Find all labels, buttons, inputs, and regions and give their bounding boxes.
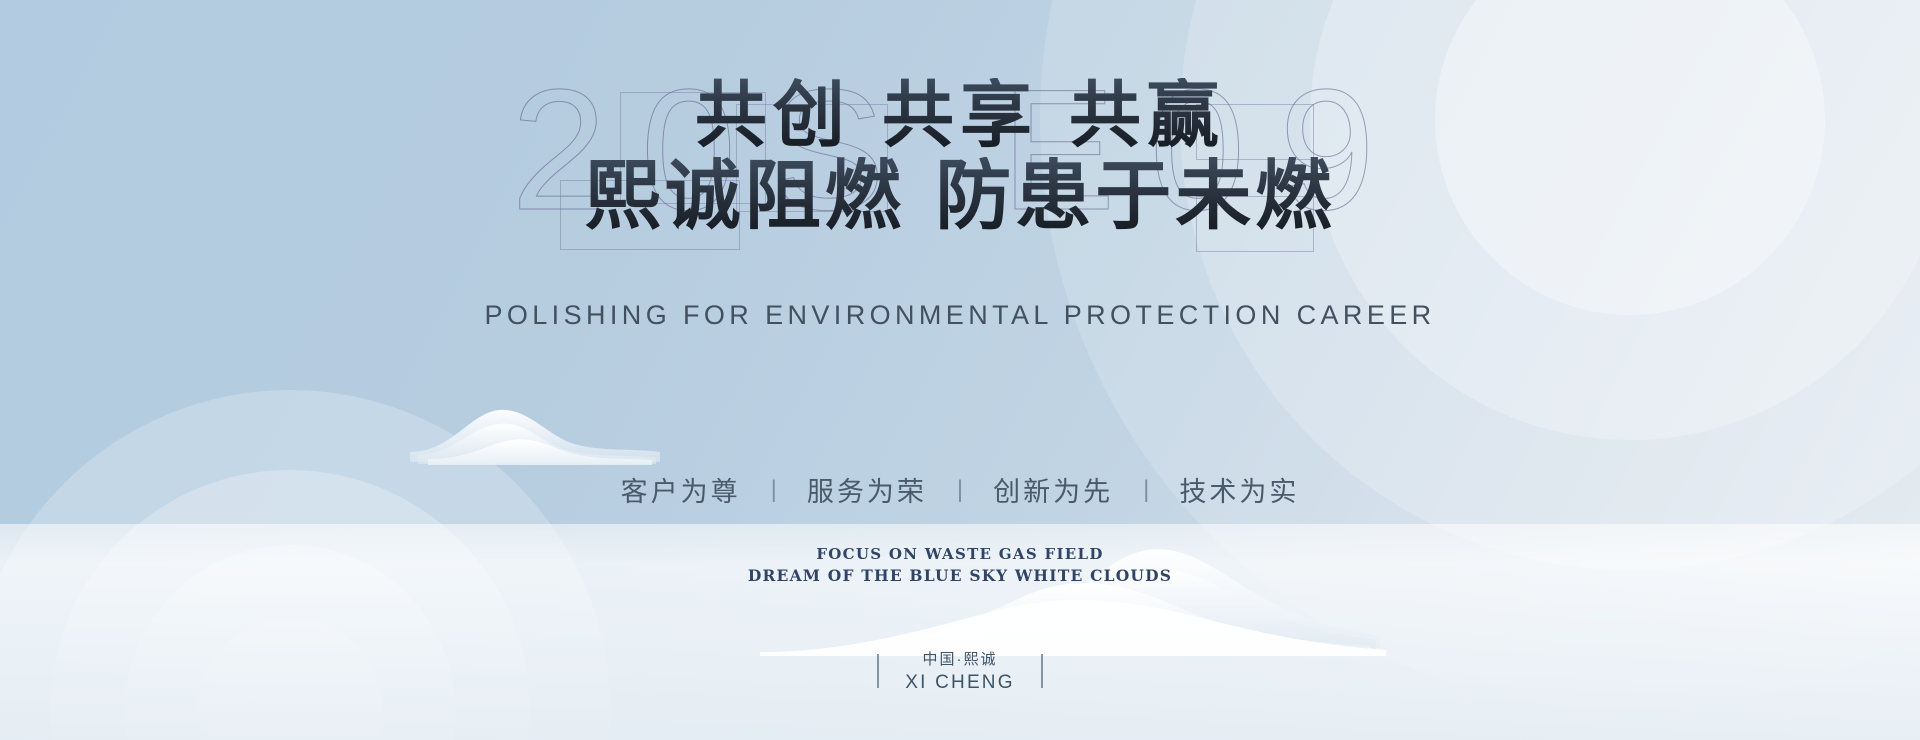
value-item-4: 技术为实 [1149,470,1329,509]
headline-line-2: 熙诚阻燃 防患于未燃 [0,157,1920,235]
footer-divider-right [1041,654,1043,688]
value-item-3: 创新为先 [963,470,1143,509]
sub-english-block: FOCUS ON WASTE GAS FIELD DREAM OF THE BL… [0,545,1920,585]
brand-name-cn: 中国·熙诚 [905,648,1014,669]
value-item-2: 服务为荣 [777,470,957,509]
brand-name-en: XI CHENG [905,672,1014,694]
sub-english-line-1: FOCUS ON WASTE GAS FIELD [0,545,1920,563]
promotional-banner: 20S E09 [0,0,1920,740]
brand-logo: 中国·熙诚 XI CHENG [905,648,1014,694]
english-tagline: POLISHING FOR ENVIRONMENTAL PROTECTION C… [0,300,1920,331]
sub-english-line-2: DREAM OF THE BLUE SKY WHITE CLOUDS [0,566,1920,585]
left-cloud-cluster [410,410,660,465]
headline-line-1: 共创 共享 共赢 [0,78,1920,151]
values-row: 客户为尊 | 服务为荣 | 创新为先 | 技术为实 [0,470,1920,509]
footer-divider-left [877,654,879,688]
headline-block: 共创 共享 共赢 熙诚阻燃 防患于未燃 [0,78,1920,235]
footer-logo-block: 中国·熙诚 XI CHENG [0,648,1920,694]
value-item-1: 客户为尊 [591,470,771,509]
